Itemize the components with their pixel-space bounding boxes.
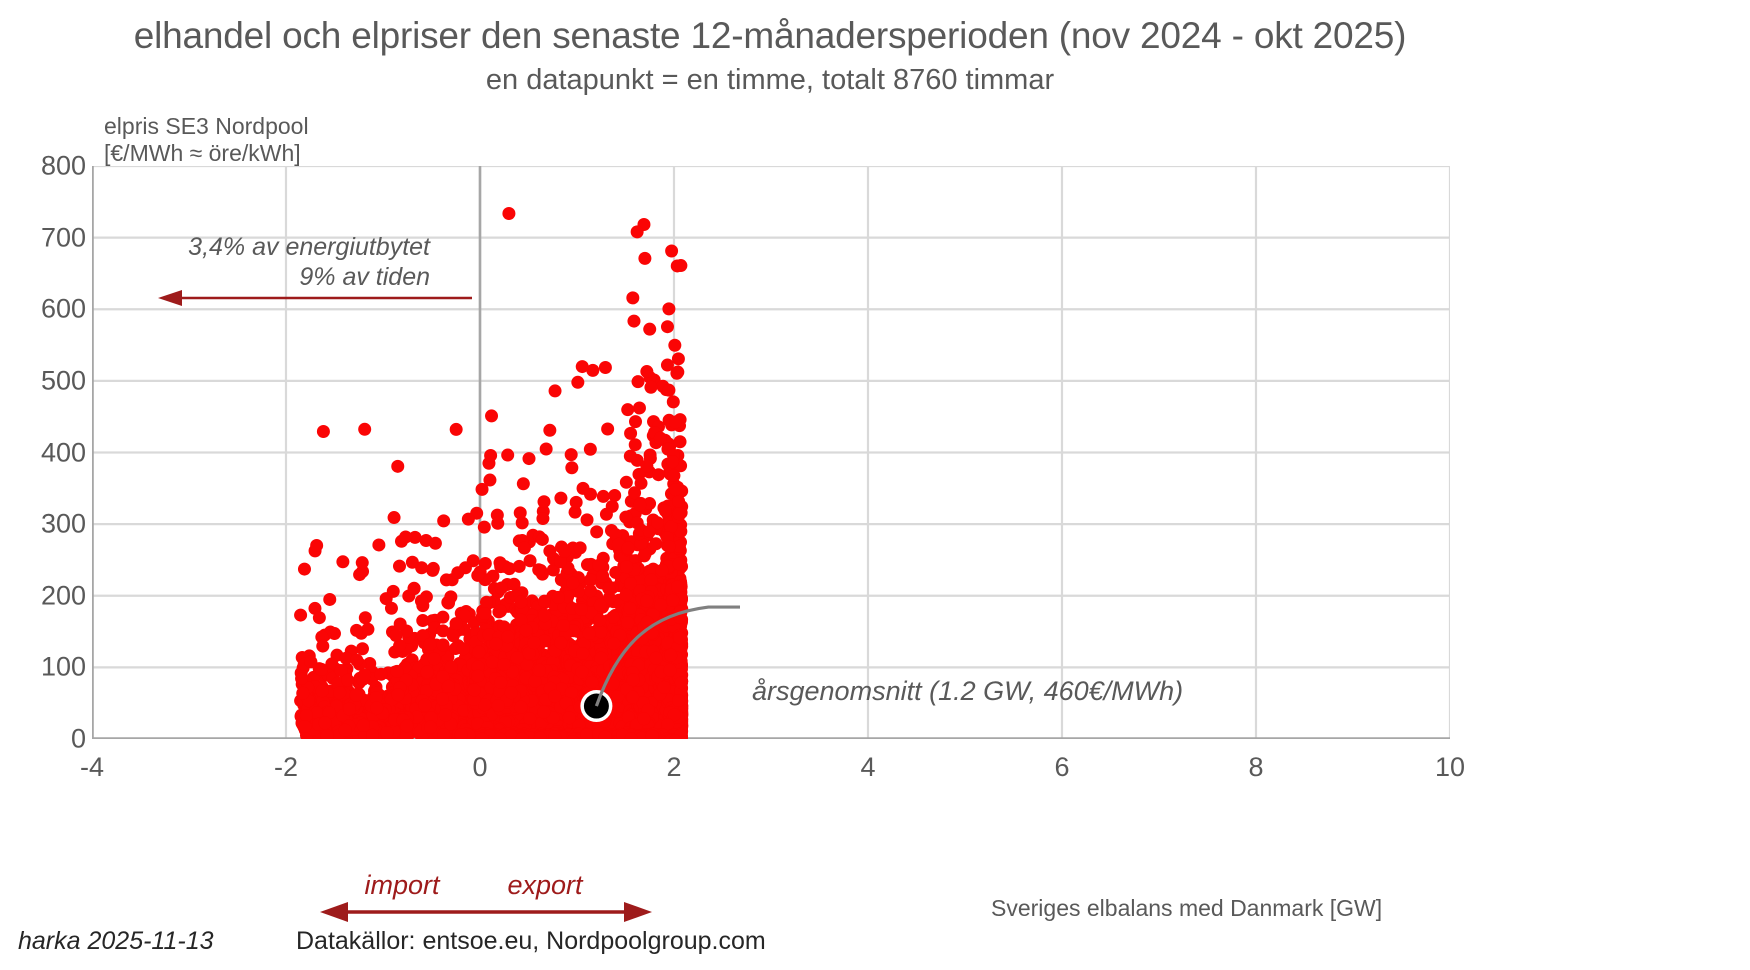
x-tick-label: 4 bbox=[860, 752, 875, 783]
y-tick-label: 400 bbox=[20, 437, 86, 468]
outlier-point bbox=[654, 432, 667, 445]
x-tick-label: 8 bbox=[1248, 752, 1263, 783]
export-direction-label: export bbox=[507, 870, 582, 901]
annotation-import-share: 3,4% av energiutbytet 9% av tiden bbox=[104, 232, 430, 292]
x-tick-label: 6 bbox=[1054, 752, 1069, 783]
y-tick-label: 300 bbox=[20, 509, 86, 540]
outlier-point bbox=[652, 468, 665, 481]
outlier-point bbox=[462, 513, 475, 526]
outlier-point bbox=[635, 477, 648, 490]
x-axis-title: Sveriges elbalans med Danmark [GW] bbox=[991, 895, 1382, 922]
outlier-point bbox=[638, 252, 651, 265]
y-tick-label: 0 bbox=[20, 724, 86, 755]
y-axis-title: elpris SE3 Nordpool [€/MWh ≈ öre/kWh] bbox=[104, 113, 309, 167]
outlier-point bbox=[640, 365, 653, 378]
x-tick-label: -4 bbox=[80, 752, 104, 783]
export-arrow-head bbox=[624, 902, 652, 922]
footer-author: harka 2025-11-13 bbox=[18, 927, 214, 956]
outlier-point bbox=[640, 460, 653, 473]
outlier-point bbox=[543, 424, 556, 437]
y-tick-label: 800 bbox=[20, 151, 86, 182]
outlier-point bbox=[565, 448, 578, 461]
footer-sources: Datakällor: entsoe.eu, Nordpoolgroup.com bbox=[296, 927, 766, 956]
x-tick-label: -2 bbox=[274, 752, 298, 783]
outlier-point bbox=[631, 225, 644, 238]
import-arrow-head bbox=[320, 902, 348, 922]
annual-average-marker bbox=[580, 690, 612, 722]
chart-page: elhandel och elpriser den senaste 12-mån… bbox=[0, 0, 1750, 970]
annotation-annual-average: årsgenomsnitt (1.2 GW, 460€/MWh) bbox=[752, 676, 1183, 707]
x-tick-label: 2 bbox=[666, 752, 681, 783]
chart-subtitle: en datapunkt = en timme, totalt 8760 tim… bbox=[0, 62, 1540, 98]
chart-title: elhandel och elpriser den senaste 12-mån… bbox=[0, 14, 1540, 58]
y-tick-label: 700 bbox=[20, 222, 86, 253]
x-axis-tick-labels: -4-20246810 bbox=[92, 752, 1450, 792]
outlier-point bbox=[624, 450, 637, 463]
x-tick-label: 0 bbox=[472, 752, 487, 783]
y-tick-label: 600 bbox=[20, 294, 86, 325]
x-tick-label: 10 bbox=[1435, 752, 1465, 783]
outlier-point bbox=[651, 516, 664, 529]
import-direction-label: import bbox=[364, 870, 439, 901]
y-axis-tick-labels: 0100200300400500600700800 bbox=[8, 166, 86, 739]
y-tick-label: 500 bbox=[20, 365, 86, 396]
y-tick-label: 100 bbox=[20, 652, 86, 683]
y-tick-label: 200 bbox=[20, 580, 86, 611]
